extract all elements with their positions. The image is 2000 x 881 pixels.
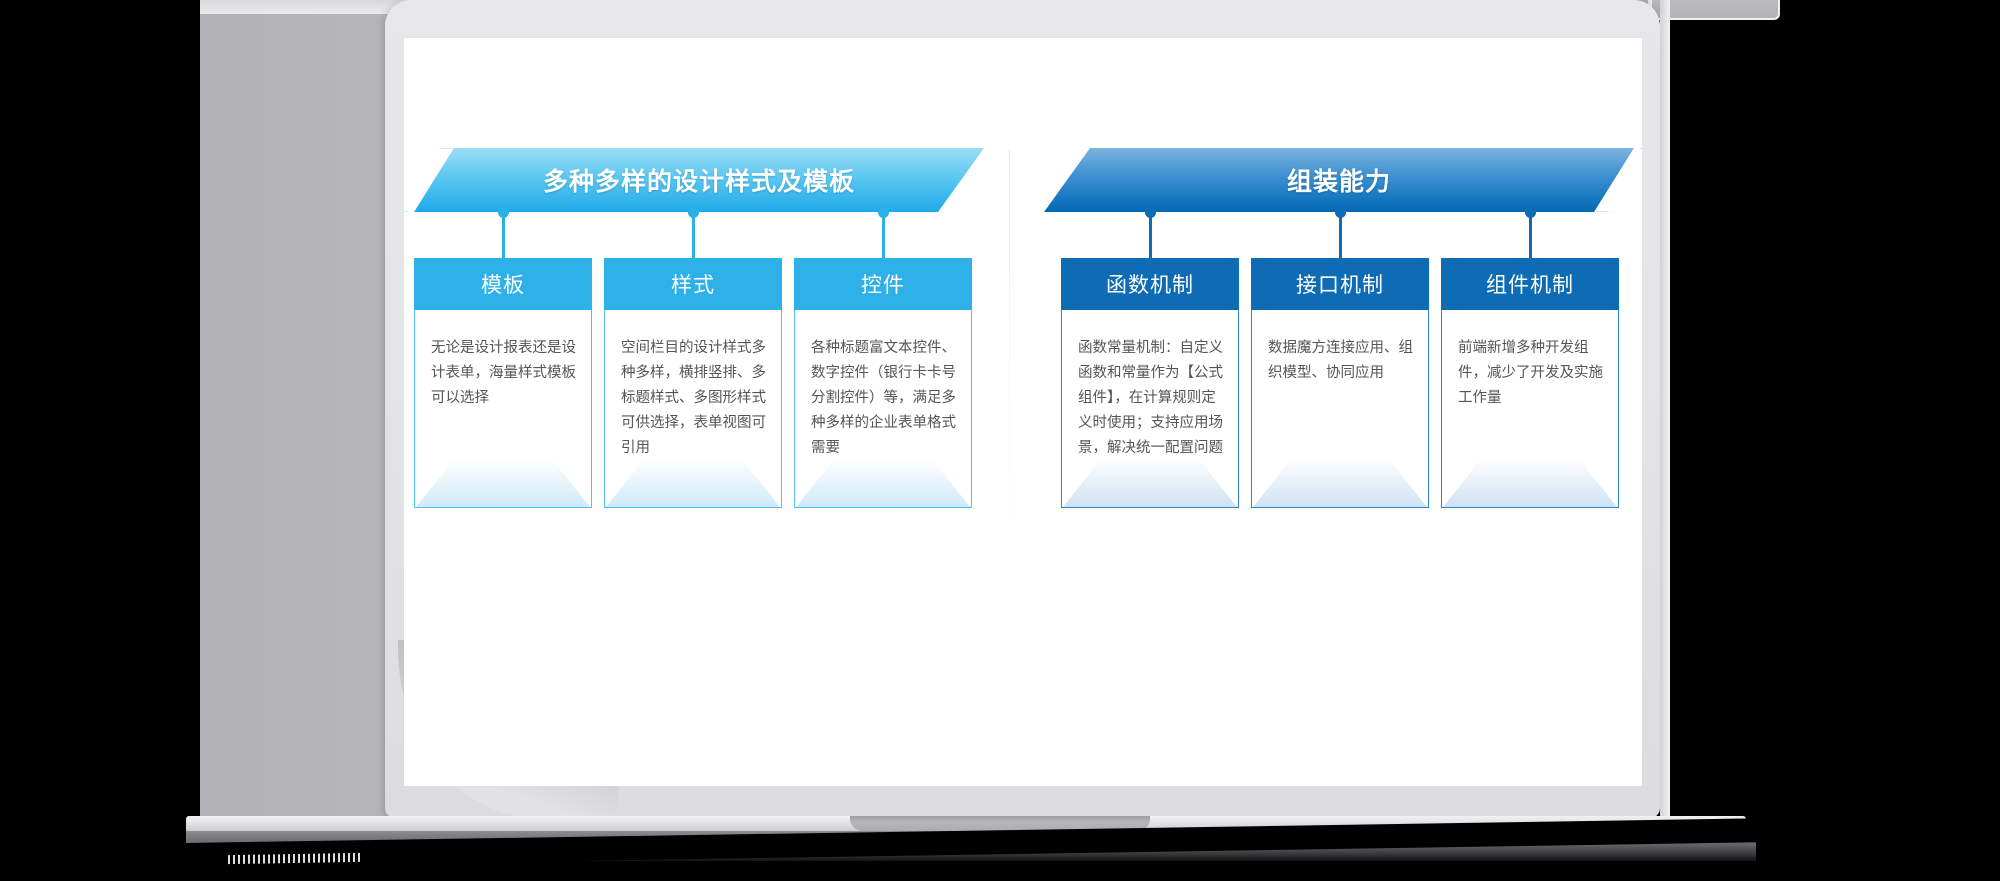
card-body-fade <box>1063 459 1237 507</box>
card-body-fade <box>796 459 970 507</box>
connector-3 <box>882 212 885 258</box>
card-body-text: 无论是设计报表还是设计表单，海量样式模板可以选择 <box>431 336 577 411</box>
group-design-styles: 多种多样的设计样式及模板 模板 <box>414 148 984 508</box>
group-assembly-capability: 组装能力 函数机制 <box>1044 148 1634 508</box>
card-component-mechanism[interactable]: 组件机制 前端新增多种开发组件，减少了开发及实施工作量 <box>1441 258 1619 508</box>
card-title: 组件机制 <box>1441 258 1619 310</box>
group-banner-design-styles[interactable]: 多种多样的设计样式及模板 <box>414 148 984 212</box>
card-body-text: 函数常量机制：自定义函数和常量作为【公式组件】，在计算规则定义时使用；支持应用场… <box>1078 336 1224 461</box>
connector-dot <box>498 207 509 218</box>
card-body: 各种标题富文本控件、数字控件（银行卡卡号分割控件）等，满足多种多样的企业表单格式… <box>794 310 972 508</box>
connector-line <box>1339 212 1342 258</box>
card-body-fade <box>606 459 780 507</box>
group-banner-assembly[interactable]: 组装能力 <box>1044 148 1634 212</box>
connector-dot <box>1525 207 1536 218</box>
card-title: 模板 <box>414 258 592 310</box>
connector-2 <box>692 212 695 258</box>
connector-group-left <box>414 212 984 258</box>
card-title: 函数机制 <box>1061 258 1239 310</box>
card-title: 控件 <box>794 258 972 310</box>
connector-1 <box>502 212 505 258</box>
card-body: 数据魔方连接应用、组织模型、协同应用 <box>1251 310 1429 508</box>
connector-2 <box>1339 212 1342 258</box>
connector-1 <box>1149 212 1152 258</box>
connector-dot <box>688 207 699 218</box>
banner-label: 多种多样的设计样式及模板 <box>543 162 855 198</box>
card-list-right: 函数机制 函数常量机制：自定义函数和常量作为【公式组件】，在计算规则定义时使用；… <box>1061 258 1634 508</box>
group-divider <box>1009 150 1010 550</box>
card-body: 前端新增多种开发组件，减少了开发及实施工作量 <box>1441 310 1619 508</box>
laptop-right-edge <box>1660 0 1670 816</box>
connector-dot <box>878 207 889 218</box>
connector-line <box>1149 212 1152 258</box>
diagram-canvas: 多种多样的设计样式及模板 模板 <box>404 38 1642 786</box>
connector-dot <box>1145 207 1156 218</box>
card-list-left: 模板 无论是设计报表还是设计表单，海量样式模板可以选择 样式 空间栏目的设计样式… <box>414 258 984 508</box>
connector-3 <box>1529 212 1532 258</box>
card-body-text: 各种标题富文本控件、数字控件（银行卡卡号分割控件）等，满足多种多样的企业表单格式… <box>811 336 957 461</box>
banner-label: 组装能力 <box>1287 162 1391 198</box>
card-function-mechanism[interactable]: 函数机制 函数常量机制：自定义函数和常量作为【公式组件】，在计算规则定义时使用；… <box>1061 258 1239 508</box>
card-body-text: 空间栏目的设计样式多种多样，横排竖排、多标题样式、多图形样式可供选择，表单视图可… <box>621 336 767 461</box>
card-body: 无论是设计报表还是设计表单，海量样式模板可以选择 <box>414 310 592 508</box>
connector-line <box>692 212 695 258</box>
connector-line <box>1529 212 1532 258</box>
card-body: 函数常量机制：自定义函数和常量作为【公式组件】，在计算规则定义时使用；支持应用场… <box>1061 310 1239 508</box>
card-body-fade <box>1253 459 1427 507</box>
card-title: 接口机制 <box>1251 258 1429 310</box>
card-style[interactable]: 样式 空间栏目的设计样式多种多样，横排竖排、多标题样式、多图形样式可供选择，表单… <box>604 258 782 508</box>
screenshot-stage: 多种多样的设计样式及模板 模板 <box>0 0 2000 881</box>
card-interface-mechanism[interactable]: 接口机制 数据魔方连接应用、组织模型、协同应用 <box>1251 258 1429 508</box>
card-body-text: 数据魔方连接应用、组织模型、协同应用 <box>1268 336 1414 386</box>
card-body-text: 前端新增多种开发组件，减少了开发及实施工作量 <box>1458 336 1604 411</box>
card-body-fade <box>1443 459 1617 507</box>
card-template[interactable]: 模板 无论是设计报表还是设计表单，海量样式模板可以选择 <box>414 258 592 508</box>
connector-line <box>882 212 885 258</box>
connector-line <box>502 212 505 258</box>
connector-group-right <box>1044 212 1634 258</box>
connector-dot <box>1335 207 1346 218</box>
card-body-fade <box>416 459 590 507</box>
card-body: 空间栏目的设计样式多种多样，横排竖排、多标题样式、多图形样式可供选择，表单视图可… <box>604 310 782 508</box>
card-control[interactable]: 控件 各种标题富文本控件、数字控件（银行卡卡号分割控件）等，满足多种多样的企业表… <box>794 258 972 508</box>
card-title: 样式 <box>604 258 782 310</box>
